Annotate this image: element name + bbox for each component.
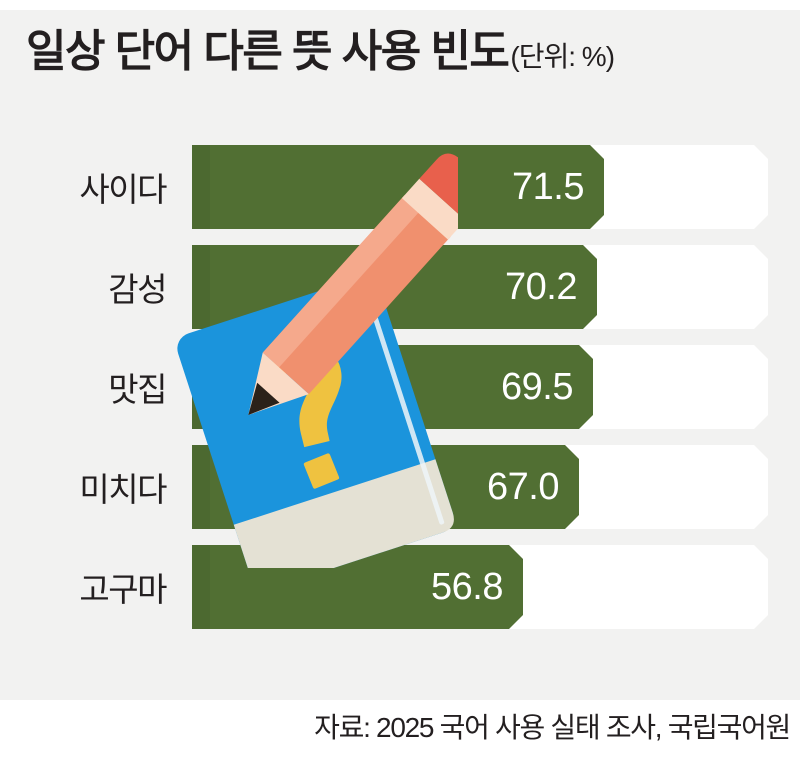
bar-value-label: 67.0 [192,445,559,529]
bar-value-label: 70.2 [192,245,577,329]
bar-category-label: 미치다 [0,445,166,529]
bar-chart: 사이다 71.5 감성 70.2 맛집 69.5 미치다 67.0 [0,128,800,673]
chart-title-row: 일상 단어 다른 뜻 사용 빈도 (단위: %) [26,30,786,100]
bar-category-label: 맛집 [0,345,166,429]
bar-value-label: 56.8 [192,545,503,629]
table-row: 사이다 71.5 [0,145,800,229]
bar-category-label: 고구마 [0,545,166,629]
page-title: 일상 단어 다른 뜻 사용 빈도 [26,30,508,74]
table-row: 감성 70.2 [0,245,800,329]
table-row: 고구마 56.8 [0,545,800,629]
table-row: 미치다 67.0 [0,445,800,529]
bar-value-label: 69.5 [192,345,573,429]
bar-value-label: 71.5 [192,145,584,229]
bar-category-label: 사이다 [0,145,166,229]
source-note: 자료: 2025 국어 사용 실태 조사, 국립국어원 [0,706,790,746]
title-unit-note: (단위: %) [510,43,614,71]
table-row: 맛집 69.5 [0,345,800,429]
infographic-root: 일상 단어 다른 뜻 사용 빈도 (단위: %) 사이다 71.5 감성 70.… [0,0,800,763]
bar-category-label: 감성 [0,245,166,329]
